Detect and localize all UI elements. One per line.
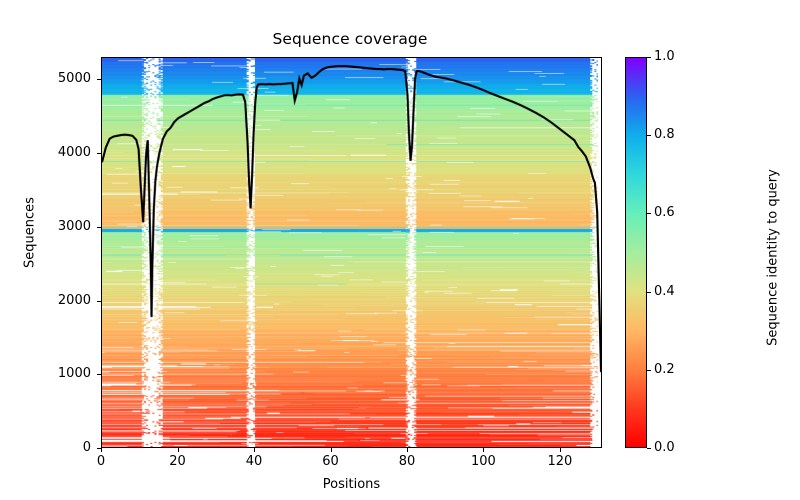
colorbar-tick-label: 0.8: [654, 127, 675, 142]
x-tick-mark: [560, 448, 561, 452]
y-tick-mark: [97, 448, 101, 449]
y-tick-mark: [97, 79, 101, 80]
x-tick-mark: [178, 448, 179, 452]
colorbar-tick-mark: [647, 135, 651, 136]
x-tick-mark: [483, 448, 484, 452]
chart-title: Sequence coverage: [0, 30, 700, 48]
colorbar-tick-mark: [647, 213, 651, 214]
colorbar-title: Sequence identity to query: [766, 128, 781, 388]
colorbar-tick-mark: [647, 448, 651, 449]
plot-area: [101, 57, 602, 448]
x-tick-label: 40: [224, 454, 284, 469]
colorbar-tick-mark: [647, 292, 651, 293]
y-tick-mark: [97, 153, 101, 154]
colorbar-tick-label: 1.0: [654, 49, 675, 64]
colorbar-tick-label: 0.2: [654, 362, 675, 377]
x-tick-label: 120: [530, 454, 590, 469]
y-tick-mark: [97, 301, 101, 302]
x-tick-label: 100: [453, 454, 513, 469]
colorbar-tick-mark: [647, 57, 651, 58]
y-tick-mark: [97, 374, 101, 375]
x-tick-mark: [101, 448, 102, 452]
x-tick-label: 80: [377, 454, 437, 469]
colorbar-tick-label: 0.0: [654, 440, 675, 455]
coverage-line: [102, 58, 601, 447]
y-tick-label: 2000: [36, 293, 91, 308]
x-tick-mark: [254, 448, 255, 452]
x-axis-title: Positions: [101, 477, 602, 492]
y-tick-label: 5000: [36, 71, 91, 86]
x-tick-mark: [331, 448, 332, 452]
y-tick-label: 4000: [36, 145, 91, 160]
colorbar-gradient: [626, 58, 646, 447]
y-axis-title: Sequences: [23, 143, 38, 323]
y-tick-mark: [97, 227, 101, 228]
colorbar-tick-mark: [647, 370, 651, 371]
colorbar: [625, 57, 647, 448]
x-tick-mark: [407, 448, 408, 452]
y-tick-label: 0: [36, 440, 91, 455]
x-tick-label: 60: [301, 454, 361, 469]
x-tick-label: 0: [71, 454, 131, 469]
colorbar-tick-label: 0.6: [654, 205, 675, 220]
y-tick-label: 3000: [36, 219, 91, 234]
figure-canvas: Sequence coverage 0204060801001200100020…: [0, 0, 800, 500]
x-tick-label: 20: [148, 454, 208, 469]
y-tick-label: 1000: [36, 366, 91, 381]
colorbar-tick-label: 0.4: [654, 284, 675, 299]
